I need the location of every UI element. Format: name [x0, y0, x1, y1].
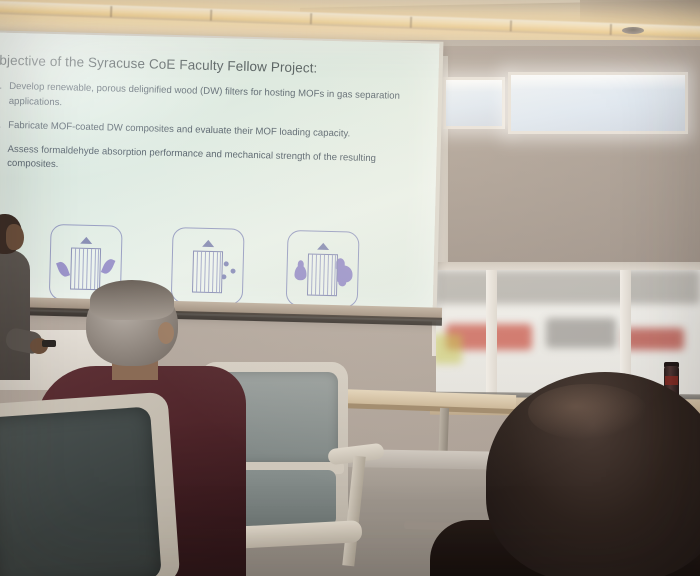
triangle-up-icon [202, 240, 214, 247]
projection-screen: Objective of the Syracuse CoE Faculty Fe… [0, 32, 439, 315]
window-shade [446, 80, 502, 92]
slide-bullet-3: 3. Assess formaldehyde absorption perfor… [0, 142, 423, 183]
bullet-number: 3. [0, 142, 1, 172]
foreground-attendee-hair-highlight [528, 384, 648, 440]
seated-attendee-hair [90, 280, 174, 320]
presenter-body [0, 250, 30, 380]
triangle-up-icon [80, 237, 92, 244]
mof-particle-icon [230, 269, 235, 274]
triangle-up-icon [317, 243, 329, 250]
presentation-room-photo: Objective of the Syracuse CoE Faculty Fe… [0, 0, 700, 576]
presentation-clicker[interactable] [42, 340, 56, 347]
bullet-number: 2. [0, 118, 1, 133]
wood-block-icon [192, 251, 223, 294]
slide-bullet-1: 1. Develop renewable, porous delignified… [0, 79, 424, 120]
diagram-absorption-and-strength [286, 230, 360, 308]
bullet-number: 1. [0, 79, 2, 109]
slide: Objective of the Syracuse CoE Faculty Fe… [0, 32, 439, 315]
bullet-text: Fabricate MOF-coated DW composites and e… [8, 119, 350, 143]
ceiling-spot-light [622, 27, 644, 34]
bullet-text: Assess formaldehyde absorption performan… [7, 142, 400, 182]
upper-window-small [443, 77, 505, 129]
leaf-icon [56, 260, 70, 278]
water-droplet-icon [294, 265, 306, 280]
wood-block-icon [307, 253, 338, 296]
flexed-bicep-icon [336, 265, 352, 282]
upper-window-wide [508, 72, 688, 134]
wood-block-icon [70, 247, 101, 290]
mof-particle-icon [224, 261, 229, 266]
window-shade [511, 75, 685, 90]
bottle-label [665, 376, 678, 385]
bullet-text: Develop renewable, porous delignified wo… [9, 80, 402, 120]
presenter-face [6, 224, 24, 250]
slide-bullet-2: 2. Fabricate MOF-coated DW composites an… [0, 118, 423, 144]
slide-bullet-list: 1. Develop renewable, porous delignified… [0, 79, 424, 182]
mof-particle-icon [221, 274, 226, 279]
seated-attendee-ear [158, 322, 174, 344]
chair-mesh-back-foreground [0, 406, 162, 576]
slide-title: Objective of the Syracuse CoE Faculty Fe… [0, 52, 425, 78]
diagram-mof-coated-wood [171, 227, 245, 305]
leaf-icon [101, 257, 116, 275]
